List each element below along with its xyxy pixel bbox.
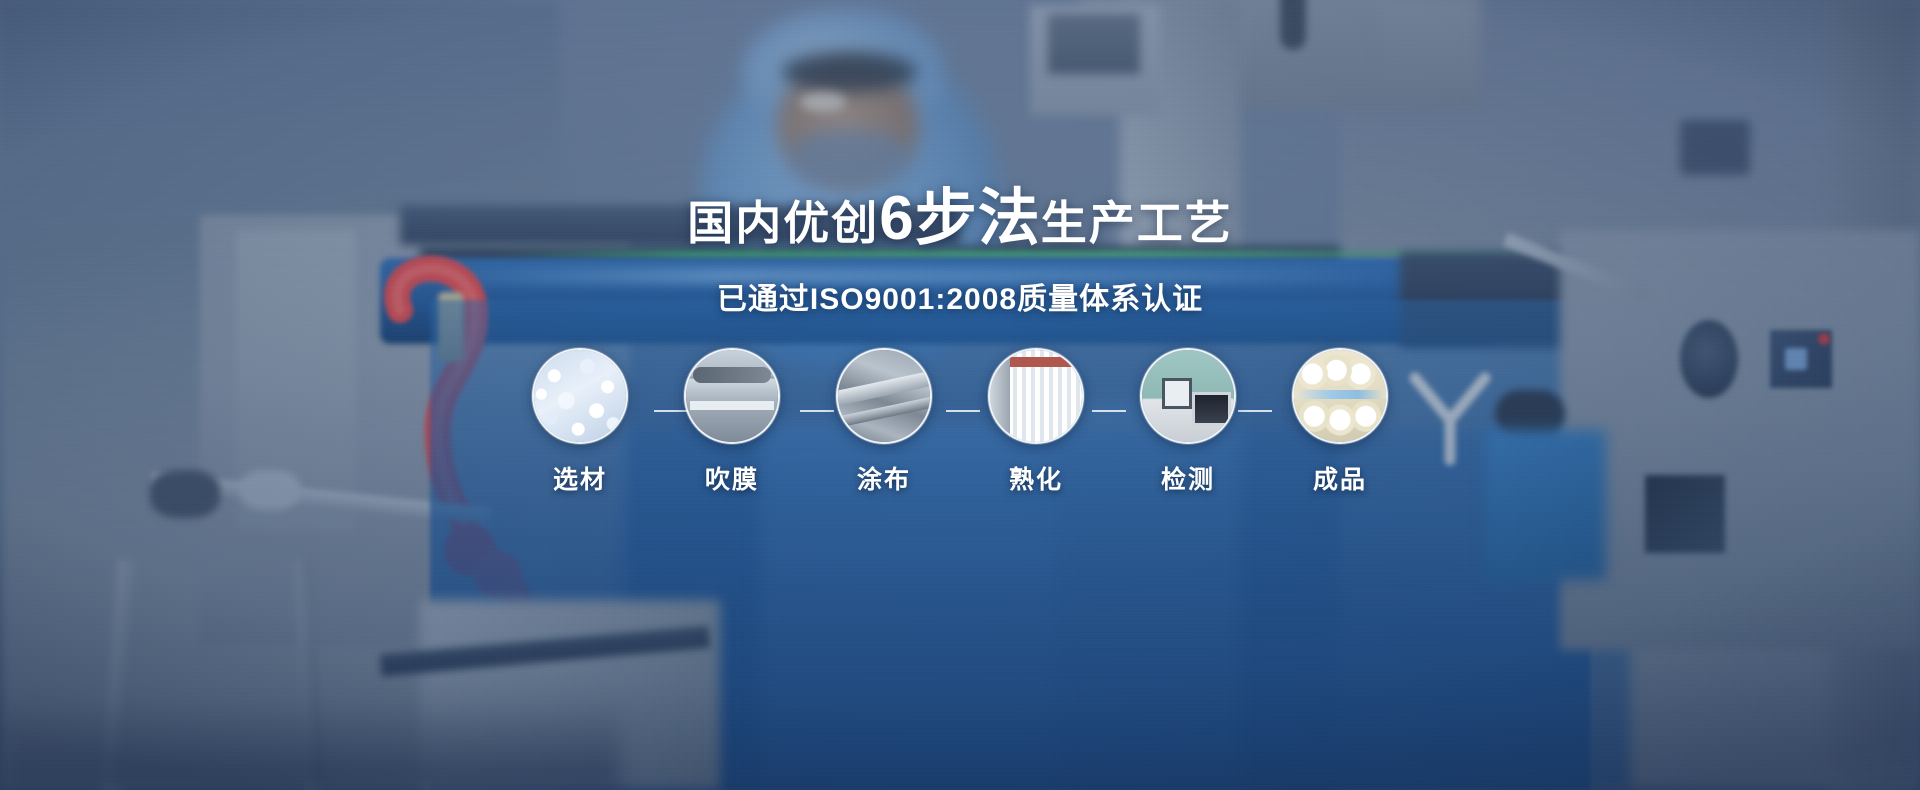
headline-emphasis: 6步法 (879, 188, 1040, 250)
step-label-2: 吹膜 (705, 460, 759, 496)
curing-room-icon (990, 350, 1082, 442)
blown-film-line-icon (686, 350, 778, 442)
process-step-4[interactable]: 熟化 (986, 348, 1086, 496)
process-banner: 国内优创6步法生产工艺 已通过ISO9001:2008质量体系认证 选材 吹膜 (0, 0, 1920, 790)
banner-headline: 国内优创6步法生产工艺 (0, 188, 1920, 250)
step-image-coating[interactable] (836, 348, 932, 444)
process-step-6[interactable]: 成品 (1290, 348, 1390, 496)
process-step-3[interactable]: 涂布 (834, 348, 934, 496)
coating-machine-icon (838, 350, 930, 442)
process-step-1[interactable]: 选材 (530, 348, 630, 496)
testing-lab-icon (1142, 350, 1234, 442)
step-label-4: 熟化 (1009, 460, 1063, 496)
step-label-3: 涂布 (857, 460, 911, 496)
step-image-finished-product[interactable] (1292, 348, 1388, 444)
step-image-material-selection[interactable] (532, 348, 628, 444)
finished-film-rolls-icon (1294, 350, 1386, 442)
step-image-curing[interactable] (988, 348, 1084, 444)
plastic-pellets-icon (534, 350, 626, 442)
step-image-inspection[interactable] (1140, 348, 1236, 444)
process-step-2[interactable]: 吹膜 (682, 348, 782, 496)
banner-subheadline: 已通过ISO9001:2008质量体系认证 (0, 274, 1920, 318)
process-step-list: 选材 吹膜 涂布 熟化 (530, 362, 1390, 482)
headline-part1: 国内优创 (687, 200, 879, 246)
step-label-1: 选材 (553, 460, 607, 496)
step-label-5: 检测 (1161, 460, 1215, 496)
banner-content: 国内优创6步法生产工艺 已通过ISO9001:2008质量体系认证 选材 吹膜 (0, 0, 1920, 790)
process-step-5[interactable]: 检测 (1138, 348, 1238, 496)
headline-part2: 生产工艺 (1041, 200, 1233, 246)
step-label-6: 成品 (1313, 460, 1367, 496)
step-image-film-blowing[interactable] (684, 348, 780, 444)
